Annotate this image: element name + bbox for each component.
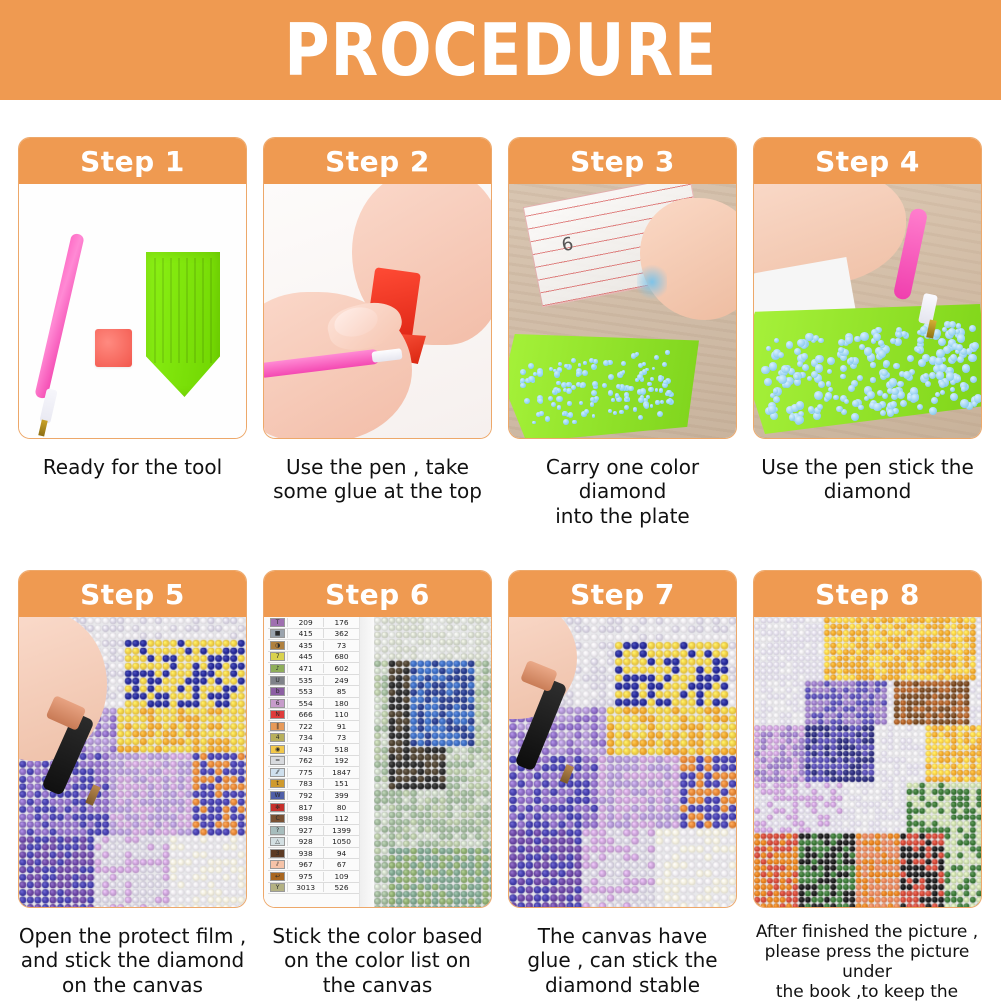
dmc-number: 817 (287, 803, 323, 812)
diamond-count: 180 (323, 699, 359, 708)
diamond (578, 363, 582, 367)
diamond (956, 376, 961, 381)
diamond (911, 394, 919, 402)
diamond (766, 346, 771, 351)
procedure-infographic: PROCEDURE Step 1 Ready for the tool Step… (0, 0, 1001, 1001)
color-list-row: T209176 (268, 617, 359, 629)
diamond (938, 338, 946, 346)
diamond (883, 360, 890, 367)
diamond-count: 73 (323, 733, 359, 742)
diamond (616, 397, 622, 403)
step-6-caption: Stick the color based on the color list … (263, 924, 492, 997)
diamond (907, 355, 914, 362)
diamond-count: 80 (323, 803, 359, 812)
color-swatch: ◑ (270, 641, 285, 650)
dmc-number: 209 (287, 618, 323, 627)
diamond (825, 392, 833, 400)
diamond (889, 378, 898, 387)
diamond (571, 358, 576, 363)
diamond (942, 327, 947, 332)
diamond-count: 112 (323, 814, 359, 823)
diamond (556, 381, 561, 386)
dmc-number: 734 (287, 733, 323, 742)
step-6-card-frame: Step 6 T209176■415362◑435737445680♪47160… (263, 570, 492, 908)
diamond (936, 349, 945, 358)
step-card-4: Step 4 Use the pen stick the diamond (753, 137, 982, 528)
diamond (873, 403, 881, 411)
dmc-number: 554 (287, 699, 323, 708)
step-7-caption: The canvas have glue , can stick the dia… (508, 924, 737, 997)
diamond-count: 1847 (323, 768, 359, 777)
diamond (592, 381, 598, 387)
color-swatch: t (270, 779, 285, 788)
dmc-number: 722 (287, 722, 323, 731)
page-title: PROCEDURE (284, 14, 717, 86)
partial-canvas (374, 617, 491, 907)
color-list-row: =762192 (268, 756, 359, 768)
diamond (622, 370, 626, 374)
table-canvas-divider (360, 617, 374, 907)
diamond (848, 385, 855, 392)
dmc-number: 471 (287, 664, 323, 673)
dmc-number: 553 (287, 687, 323, 696)
diamond (836, 406, 843, 413)
diamond (539, 411, 544, 416)
diamond-count: 94 (323, 849, 359, 858)
diamond (603, 360, 609, 366)
step-card-8: Step 8 After finished the picture , plea… (753, 570, 982, 1001)
diamond-count: 91 (323, 722, 359, 731)
diamond (648, 387, 654, 393)
dmc-number: 775 (287, 768, 323, 777)
diamond (572, 420, 576, 424)
diamond (796, 401, 804, 409)
step-2-caption: Use the pen , take some glue at the top (263, 455, 492, 504)
finished-canvas-mosaic (754, 617, 981, 907)
step-5-header: Step 5 (19, 571, 246, 617)
diamond (554, 371, 560, 377)
color-list-row: 7445680 (268, 652, 359, 664)
color-list-row: b55385 (268, 686, 359, 698)
diamond (882, 393, 888, 399)
diamond (918, 359, 926, 367)
diamond (608, 390, 614, 396)
diamond (590, 397, 595, 402)
step-card-3: Step 3 6 Carry one color diamond into th… (508, 137, 737, 528)
color-list-row: △9281050 (268, 836, 359, 848)
diamond (654, 355, 659, 360)
diamond (864, 347, 873, 356)
diamond-count: 362 (323, 629, 359, 638)
diamond (827, 369, 832, 374)
step-4-header: Step 4 (754, 138, 981, 184)
diamond (655, 400, 659, 404)
color-list-row: ✻81780 (268, 802, 359, 814)
diamond (521, 371, 525, 375)
diamond (797, 361, 803, 367)
diamond (833, 395, 838, 400)
step-3-photo: 6 (509, 184, 736, 438)
diamond (638, 397, 644, 403)
diamond (857, 375, 863, 381)
step-4-caption: Use the pen stick the diamond (753, 455, 982, 504)
color-swatch: T (270, 618, 285, 627)
dmc-number: 928 (287, 837, 323, 846)
diamond-count: 1050 (323, 837, 359, 846)
diamond (935, 392, 940, 397)
step-2-card-frame: Step 2 (263, 137, 492, 439)
page-banner: PROCEDURE (0, 0, 1001, 100)
step-card-2: Step 2 Use the pen , take some glue at t… (263, 137, 492, 528)
color-list-row: ◑43573 (268, 640, 359, 652)
diamond (960, 399, 969, 408)
step-6-header: Step 6 (264, 571, 491, 617)
diamond (940, 390, 945, 395)
diamond-count: 192 (323, 756, 359, 765)
diamond (948, 328, 956, 336)
diamond (878, 350, 886, 358)
diamond (633, 407, 638, 412)
pen-nib-icon (38, 420, 47, 437)
color-swatch: ■ (270, 629, 285, 638)
diamond (916, 348, 921, 353)
step-8-header: Step 8 (754, 571, 981, 617)
step-card-7: Step 7 The canvas have glue , can stick … (508, 570, 737, 1001)
diamond (903, 371, 911, 379)
diamond (931, 397, 938, 404)
step-1-caption: Ready for the tool (18, 455, 247, 479)
diamond-count: 399 (323, 791, 359, 800)
diamond (970, 376, 977, 383)
diamond (640, 388, 646, 394)
diamond (646, 395, 650, 399)
color-swatch: N (270, 710, 285, 719)
diamond (797, 339, 805, 347)
diamond (657, 411, 663, 417)
diamond (950, 387, 955, 392)
color-list-row: ?9271399 (268, 825, 359, 837)
diamond (524, 398, 530, 404)
color-list-row: t783151 (268, 779, 359, 791)
diamond (666, 390, 672, 396)
diamond-count: 249 (323, 676, 359, 685)
diamond (558, 362, 562, 366)
diamond-count: 526 (323, 883, 359, 892)
diamond (870, 362, 875, 367)
diamond (628, 386, 634, 392)
diamond-count: 110 (323, 710, 359, 719)
diamond (815, 364, 824, 373)
glue-square-icon (95, 329, 132, 367)
diamond (532, 421, 536, 425)
diamond (615, 393, 620, 398)
diamond (887, 409, 895, 417)
step-3-header: Step 3 (509, 138, 736, 184)
color-list-row: 6554180 (268, 698, 359, 710)
diamond (637, 374, 643, 380)
color-swatch: C (270, 814, 285, 823)
step-1-card-frame: Step 1 (18, 137, 247, 439)
diamond (845, 336, 853, 344)
diamond (650, 404, 654, 408)
color-list-row: ‖72291 (268, 721, 359, 733)
color-list-row: C898112 (268, 813, 359, 825)
color-list-row: 393894 (268, 848, 359, 860)
color-swatch: ⫽ (270, 860, 285, 869)
step-5-card-frame: Step 5 (18, 570, 247, 908)
diamond (608, 374, 614, 380)
diamond (768, 405, 776, 413)
step-1-photo (19, 184, 246, 438)
diamond (761, 366, 770, 375)
color-swatch: Y (270, 883, 285, 892)
diamond (968, 354, 977, 363)
diamond (971, 342, 979, 350)
color-list-row: Y3013526 (268, 883, 359, 895)
diamond (584, 409, 589, 414)
dmc-number: 967 (287, 860, 323, 869)
color-list-row: ◉743518 (268, 744, 359, 756)
diamond (957, 334, 966, 343)
diamond-count: 73 (323, 641, 359, 650)
diamond-count: 1399 (323, 826, 359, 835)
diamond (566, 382, 571, 387)
diamond (662, 362, 667, 367)
diamond-count: 680 (323, 652, 359, 661)
color-swatch: = (270, 756, 285, 765)
color-swatch: ◉ (270, 745, 285, 754)
dmc-number: 445 (287, 652, 323, 661)
diamond (901, 331, 907, 337)
step-5-caption: Open the protect film , and stick the di… (18, 924, 247, 997)
step-5-photo (19, 617, 246, 907)
pink-pen-icon (34, 233, 84, 400)
diamond (814, 391, 823, 400)
dmc-number: 938 (287, 849, 323, 858)
color-list-row: ↩975109 (268, 871, 359, 883)
diamond-count: 176 (323, 618, 359, 627)
diamond (778, 375, 786, 383)
diamond (644, 403, 650, 409)
color-swatch: b (270, 687, 285, 696)
color-list-row: N666110 (268, 709, 359, 721)
diamond (559, 368, 563, 372)
color-swatch: 6 (270, 699, 285, 708)
step-4-card-frame: Step 4 (753, 137, 982, 439)
color-swatch: ⁄⁄ (270, 768, 285, 777)
diamond (773, 388, 778, 393)
diamond (528, 376, 534, 382)
diamond (619, 410, 623, 414)
diamond (939, 364, 947, 372)
diamond (900, 400, 907, 407)
step-card-6: Step 6 T209176■415362◑435737445680♪47160… (263, 570, 492, 1001)
color-swatch: ‖ (270, 722, 285, 731)
diamond (551, 402, 556, 407)
step-7-photo (509, 617, 736, 907)
diamond (925, 381, 931, 387)
diamond (592, 414, 596, 418)
color-swatch: ↩ (270, 872, 285, 881)
diamond (647, 382, 652, 387)
diamond-count: 67 (323, 860, 359, 869)
diamond (556, 396, 562, 402)
diamond (815, 355, 824, 364)
diamond (929, 407, 937, 415)
color-list-row: U535249 (268, 675, 359, 687)
diamond (557, 405, 561, 409)
dmc-number: 3013 (287, 883, 323, 892)
diamond (552, 390, 556, 394)
diamond (936, 371, 945, 380)
step-2-header: Step 2 (264, 138, 491, 184)
diamond (567, 401, 572, 406)
diamond (583, 361, 587, 365)
diamond (891, 388, 899, 396)
diamond (582, 370, 588, 376)
step-1-header: Step 1 (19, 138, 246, 184)
dmc-number: 898 (287, 814, 323, 823)
diamond (520, 383, 526, 389)
diamond-count: 518 (323, 745, 359, 754)
diamond (563, 388, 567, 392)
color-swatch: 7 (270, 652, 285, 661)
dmc-number: 435 (287, 641, 323, 650)
dmc-number: 415 (287, 629, 323, 638)
diamond (946, 372, 955, 381)
diamond (826, 381, 831, 386)
color-swatch: W (270, 791, 285, 800)
diamond (537, 370, 544, 377)
diamond (969, 325, 976, 332)
diamond (562, 412, 566, 416)
diamond (840, 365, 847, 372)
diamond (642, 362, 646, 366)
color-list-row: ♪471602 (268, 663, 359, 675)
diamond (564, 364, 569, 369)
dmc-number: 666 (287, 710, 323, 719)
diamond (566, 388, 572, 394)
dmc-number: 743 (287, 745, 323, 754)
diamond (638, 415, 643, 420)
diamond (786, 341, 793, 348)
diamond (563, 419, 569, 425)
color-list-table: T209176■415362◑435737445680♪471602U53524… (264, 617, 360, 907)
diamond (828, 387, 833, 392)
diamond-count: 602 (323, 664, 359, 673)
color-swatch: 4 (270, 733, 285, 742)
diamond (878, 340, 884, 346)
step-3-card-frame: Step 3 6 (508, 137, 737, 439)
color-list-and-canvas: T209176■415362◑435737445680♪471602U53524… (264, 617, 491, 907)
step-4-photo (754, 184, 981, 438)
diamond (852, 400, 859, 407)
color-list-row: ⁄⁄7751847 (268, 767, 359, 779)
color-list-row: W792399 (268, 790, 359, 802)
step-7-header: Step 7 (509, 571, 736, 617)
diamond (801, 353, 808, 360)
diamond (849, 357, 855, 363)
color-swatch: ♪ (270, 664, 285, 673)
diamond (950, 393, 958, 401)
step-8-photo (754, 617, 981, 907)
color-list-row: 473473 (268, 732, 359, 744)
diamond (608, 409, 612, 413)
step-8-caption: After finished the picture , please pres… (741, 922, 993, 1001)
step-6-photo: T209176■415362◑435737445680♪471602U53524… (264, 617, 491, 907)
dmc-number: 783 (287, 779, 323, 788)
dmc-number: 792 (287, 791, 323, 800)
step-3-caption: Carry one color diamond into the plate (508, 455, 737, 528)
diamond (858, 405, 864, 411)
step-2-photo (264, 184, 491, 438)
green-tray-icon (146, 252, 220, 397)
diamond (528, 363, 534, 369)
dmc-number: 762 (287, 756, 323, 765)
step-8-card-frame: Step 8 (753, 570, 982, 908)
diamond-count: 85 (323, 687, 359, 696)
dmc-number: 975 (287, 872, 323, 881)
diamond (784, 367, 790, 373)
diamond (860, 332, 869, 341)
diamond (870, 377, 875, 382)
color-swatch: U (270, 676, 285, 685)
step-card-5: Step 5 Open the protect film , and stick… (18, 570, 247, 1001)
steps-row-2: Step 5 Open the protect film , and stick… (18, 570, 984, 1001)
pouring-diamonds (637, 262, 667, 302)
color-swatch: ✻ (270, 803, 285, 812)
color-swatch: 3 (270, 849, 285, 858)
diamond (950, 354, 957, 361)
steps-row-1: Step 1 Ready for the tool Step 2 (18, 137, 984, 528)
diamond (974, 394, 982, 403)
dmc-number: 535 (287, 676, 323, 685)
color-swatch: △ (270, 837, 285, 846)
diamond (611, 398, 615, 402)
diamond-count: 109 (323, 872, 359, 881)
step-7-card-frame: Step 7 (508, 570, 737, 908)
diamond-count: 151 (323, 779, 359, 788)
diamond (589, 358, 595, 364)
color-list-row: ■415362 (268, 629, 359, 641)
color-list-row: ⫽96767 (268, 859, 359, 871)
step-card-1: Step 1 Ready for the tool (18, 137, 247, 528)
diamond (764, 378, 772, 386)
color-swatch: ? (270, 826, 285, 835)
diamond (591, 390, 597, 396)
dmc-number: 927 (287, 826, 323, 835)
